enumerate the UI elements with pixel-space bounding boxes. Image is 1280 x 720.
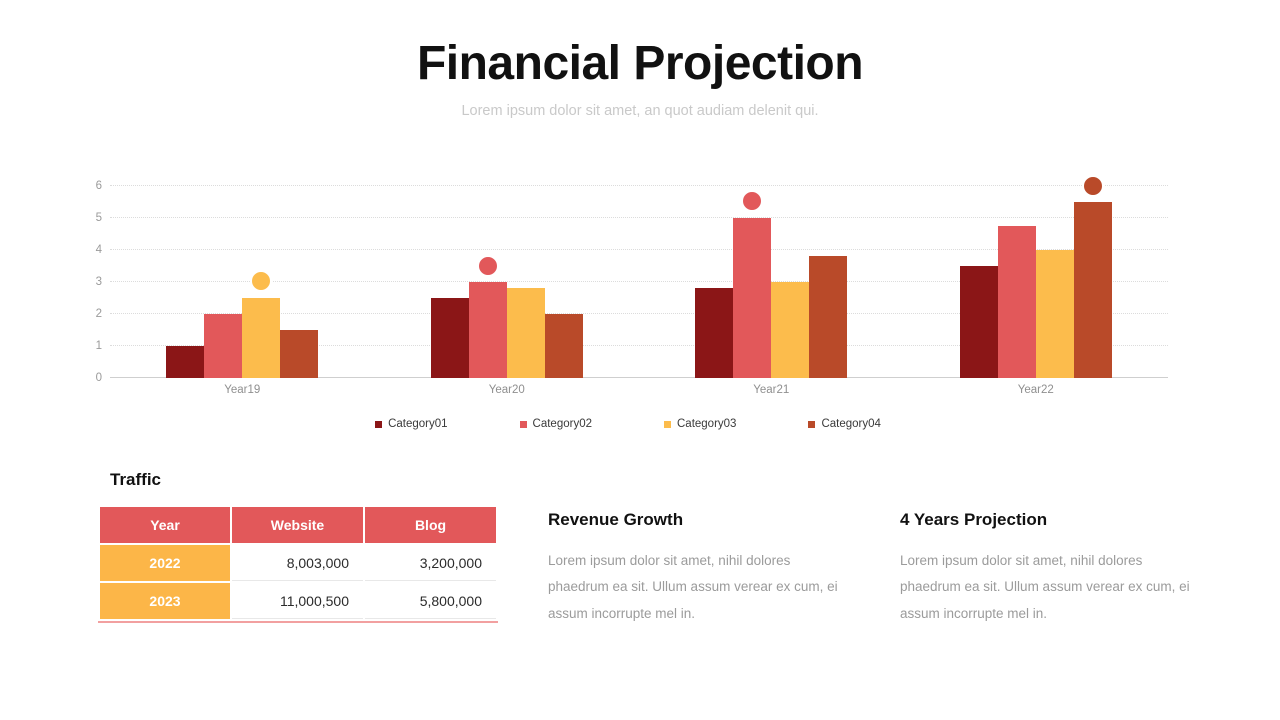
financial-projection-chart: 0123456 Year19Year20Year21Year22 Categor… [88, 186, 1168, 436]
column-title: Revenue Growth [548, 510, 848, 530]
column-body: Lorem ipsum dolor sit amet, nihil dolore… [900, 548, 1200, 627]
legend-item-category02[interactable]: Category02 [520, 418, 592, 430]
bar-category02[interactable] [204, 314, 242, 378]
x-axis-tick-label: Year20 [375, 384, 640, 396]
bar-category02[interactable] [469, 282, 507, 378]
slide-root: Financial Projection Lorem ipsum dolor s… [0, 0, 1280, 720]
cell-year: 2023 [100, 583, 230, 619]
y-axis-tick-label: 6 [96, 180, 102, 192]
legend-label: Category03 [677, 418, 736, 430]
legend-item-category04[interactable]: Category04 [808, 418, 880, 430]
bar-category02[interactable] [733, 218, 771, 378]
page-title: Financial Projection [0, 38, 1280, 91]
bar-set [110, 186, 375, 378]
bar-category02[interactable] [998, 226, 1036, 378]
traffic-title: Traffic [98, 470, 490, 490]
bar-category04[interactable] [545, 314, 583, 378]
y-axis-tick-label: 2 [96, 308, 102, 320]
column-header-year: Year [100, 507, 230, 543]
bar-category03[interactable] [771, 282, 809, 378]
y-axis-tick-label: 1 [96, 340, 102, 352]
cell-website: 11,000,500 [232, 583, 363, 619]
bar-category03[interactable] [1036, 250, 1074, 378]
legend-label: Category04 [821, 418, 880, 430]
y-axis-tick-label: 4 [96, 244, 102, 256]
x-axis-tick-label: Year22 [904, 384, 1169, 396]
table-row: 2022 8,003,000 3,200,000 [100, 545, 496, 581]
cell-year: 2022 [100, 545, 230, 581]
traffic-table: Year Website Blog 2022 8,003,000 3,200,0… [98, 505, 498, 623]
bar-set [375, 186, 640, 378]
traffic-section: Traffic Year Website Blog 2022 8,003,000… [98, 470, 490, 623]
legend-swatch-icon [808, 421, 815, 428]
slide-header: Financial Projection Lorem ipsum dolor s… [0, 0, 1280, 119]
legend-label: Category02 [533, 418, 592, 430]
bar-category03[interactable] [507, 288, 545, 378]
bar-set [639, 186, 904, 378]
text-column-revenue-growth: Revenue Growth Lorem ipsum dolor sit ame… [548, 510, 848, 627]
bar-set [904, 186, 1169, 378]
bar-category04[interactable] [280, 330, 318, 378]
x-axis-tick-label: Year19 [110, 384, 375, 396]
y-axis-tick-label: 0 [96, 372, 102, 384]
cell-website: 8,003,000 [232, 545, 363, 581]
bar-group: Year19 [110, 186, 375, 378]
bar-group: Year22 [904, 186, 1169, 378]
data-point-marker[interactable] [477, 255, 499, 277]
legend-label: Category01 [388, 418, 447, 430]
table-header-row: Year Website Blog [100, 507, 496, 543]
column-header-website: Website [232, 507, 363, 543]
page-subtitle: Lorem ipsum dolor sit amet, an quot audi… [0, 103, 1280, 119]
legend-item-category03[interactable]: Category03 [664, 418, 736, 430]
bar-category04[interactable] [809, 256, 847, 378]
data-point-marker[interactable] [250, 270, 272, 292]
bar-category04[interactable] [1074, 202, 1112, 378]
data-point-marker[interactable] [741, 190, 763, 212]
x-axis-tick-label: Year21 [639, 384, 904, 396]
y-axis-tick-label: 3 [96, 276, 102, 288]
bar-group: Year21 [639, 186, 904, 378]
y-axis-tick-label: 5 [96, 212, 102, 224]
data-point-marker[interactable] [1082, 175, 1104, 197]
bar-category01[interactable] [960, 266, 998, 378]
text-column-4-years-projection: 4 Years Projection Lorem ipsum dolor sit… [900, 510, 1200, 627]
cell-blog: 3,200,000 [365, 545, 496, 581]
bar-category03[interactable] [242, 298, 280, 378]
legend-swatch-icon [664, 421, 671, 428]
table-row: 2023 11,000,500 5,800,000 [100, 583, 496, 619]
column-body: Lorem ipsum dolor sit amet, nihil dolore… [548, 548, 848, 627]
legend-swatch-icon [375, 421, 382, 428]
bar-group: Year20 [375, 186, 640, 378]
legend-swatch-icon [520, 421, 527, 428]
chart-bar-groups: Year19Year20Year21Year22 [110, 186, 1168, 378]
bar-category01[interactable] [695, 288, 733, 378]
legend-item-category01[interactable]: Category01 [375, 418, 447, 430]
column-header-blog: Blog [365, 507, 496, 543]
chart-legend: Category01Category02Category03Category04 [88, 418, 1168, 430]
bar-category01[interactable] [166, 346, 204, 378]
cell-blog: 5,800,000 [365, 583, 496, 619]
bar-category01[interactable] [431, 298, 469, 378]
column-title: 4 Years Projection [900, 510, 1200, 530]
chart-plot-area: 0123456 Year19Year20Year21Year22 [110, 186, 1168, 378]
